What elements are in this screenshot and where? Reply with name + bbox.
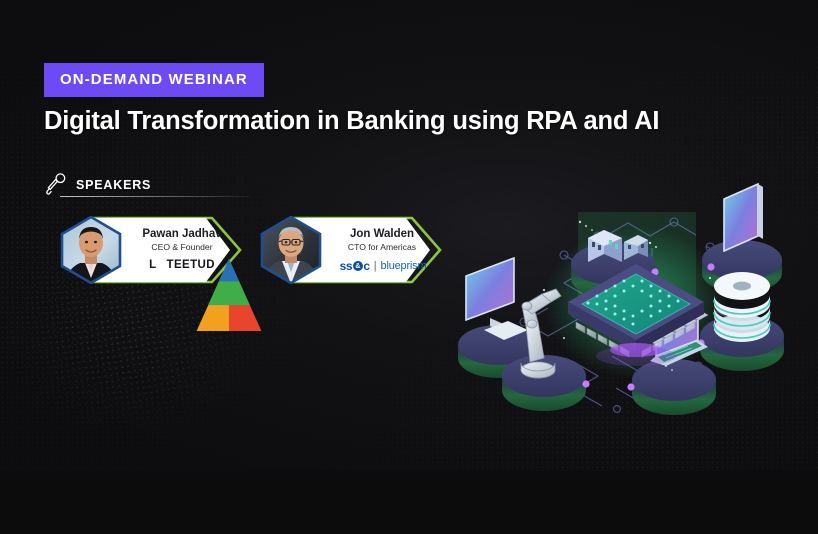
speaker-info-pawan-jadhav: Pawan Jadhav CEO & Founder — [130, 228, 234, 254]
blueprism-wordmark: blueprism — [381, 260, 427, 272]
speaker-role: CEO & Founder — [130, 241, 234, 254]
speaker-info-jon-walden: Jon Walden CTO for Americas — [330, 228, 434, 254]
ssc-logo-c: c — [363, 259, 369, 273]
microphone-icon — [44, 172, 68, 198]
speaker-card-jon-walden[interactable]: Jon Walden CTO for Americas ss & c | blu… — [254, 214, 448, 286]
speaker-card-pawan-jadhav[interactable]: Pawan Jadhav CEO & Founder L TEETUD — [54, 214, 248, 286]
speakers-label: SPEAKERS — [76, 178, 151, 192]
ssc-logo-ss: ss — [340, 259, 353, 273]
isometric-iot-network-illustration — [452, 150, 818, 425]
speaker-name: Jon Walden — [330, 228, 434, 241]
ssc-logo-ampersand: & — [353, 261, 363, 271]
ssc-wordmark: ss & c — [340, 259, 370, 273]
on-demand-webinar-badge: ON-DEMAND WEBINAR — [44, 63, 264, 97]
speaker-name: Pawan Jadhav — [130, 228, 234, 241]
speakers-header: SPEAKERS — [44, 172, 254, 198]
speaker-photo-jon-walden — [258, 216, 324, 284]
lateetud-logo: L TEETUD — [132, 259, 232, 271]
pyramid-icon — [157, 261, 166, 271]
page-title: Digital Transformation in Banking using … — [44, 107, 659, 136]
ssc-logo-divider: | — [374, 260, 377, 272]
speaker-role: CTO for Americas — [330, 241, 434, 254]
ssc-blueprism-logo: ss & c | blueprism — [328, 259, 438, 273]
speakers-divider-line — [60, 196, 250, 197]
speaker-photo-pawan-jadhav — [58, 216, 124, 284]
